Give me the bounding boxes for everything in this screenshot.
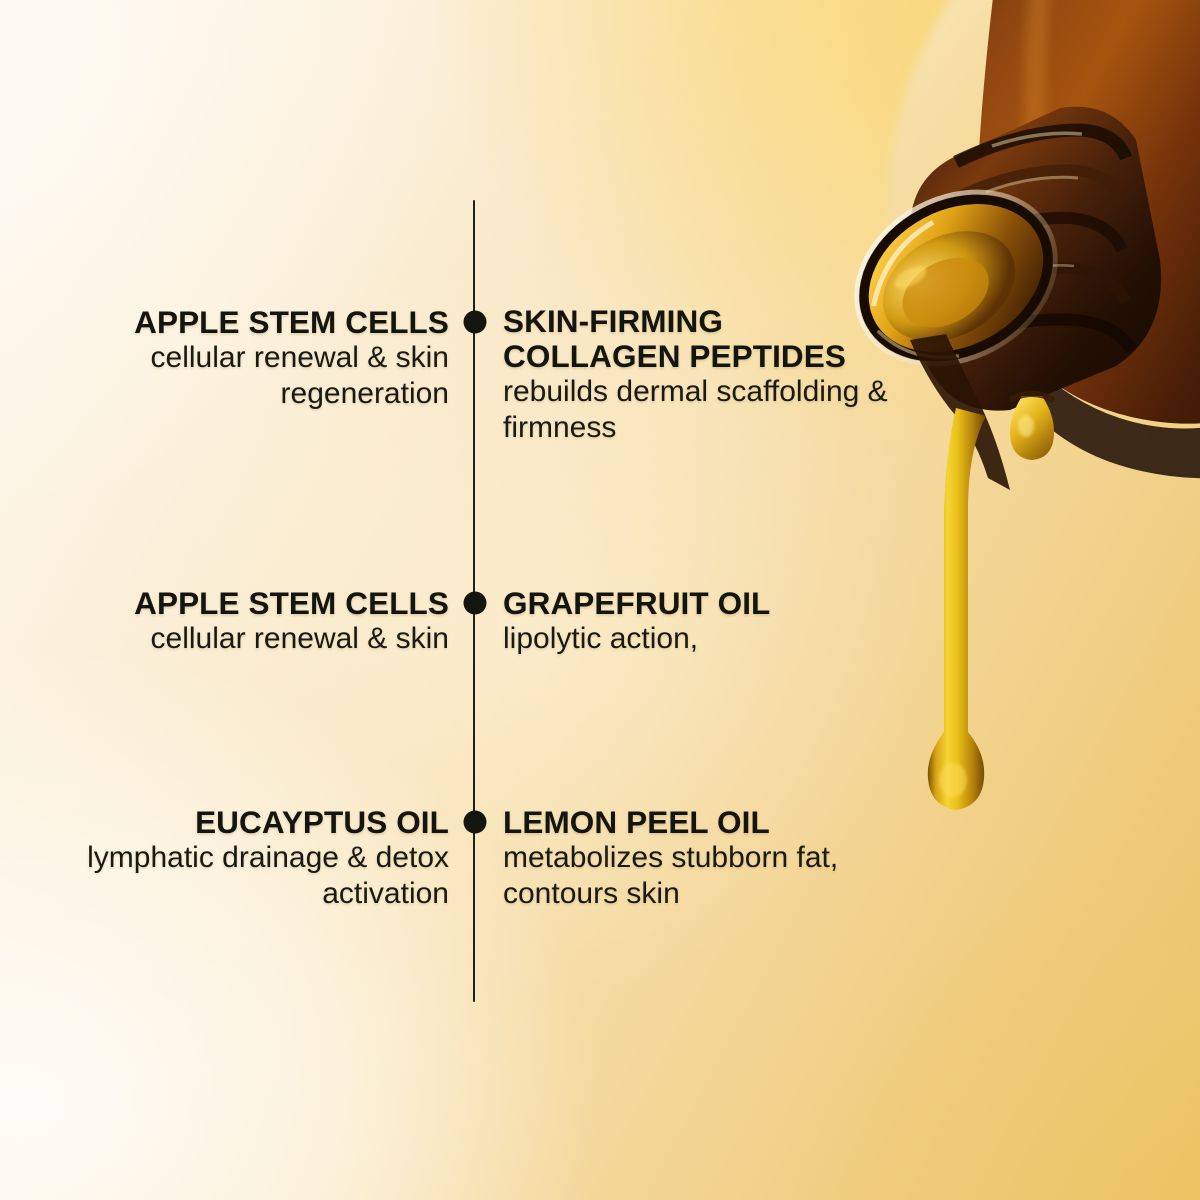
right-ingredient-2-title: GRAPEFRUIT OIL (503, 586, 903, 621)
right-ingredient-1-title: SKIN-FIRMING COLLAGEN PEPTIDES (503, 304, 903, 374)
bullet-dot-1 (463, 311, 486, 334)
left-ingredient-2-title: APPLE STEM CELLS (0, 586, 449, 621)
bullet-dot-3 (463, 811, 486, 834)
bullet-dot-2 (463, 592, 486, 615)
left-ingredient-3-description: lymphatic drainage & detox activation (0, 840, 449, 911)
right-ingredient-3-description: metabolizes stubborn fat, contours skin (503, 840, 903, 911)
left-ingredient-3-title: EUCAYPTUS OIL (0, 805, 449, 840)
ingredient-benefits-poster: APPLE STEM CELLS cellular renewal & skin… (0, 0, 1200, 1200)
right-ingredient-2-description: lipolytic action, (503, 621, 903, 657)
left-ingredient-2-description: cellular renewal & skin (0, 621, 449, 657)
left-ingredient-1-title: APPLE STEM CELLS (0, 305, 449, 340)
right-ingredient-1-description: rebuilds dermal scaffolding & firmness (503, 374, 903, 445)
right-ingredient-2: GRAPEFRUIT OIL lipolytic action, (503, 586, 903, 657)
left-ingredient-1: APPLE STEM CELLS cellular renewal & skin… (0, 305, 449, 411)
left-ingredient-2: APPLE STEM CELLS cellular renewal & skin (0, 586, 449, 657)
right-ingredient-3-title: LEMON PEEL OIL (503, 805, 903, 840)
right-ingredient-1: SKIN-FIRMING COLLAGEN PEPTIDES rebuilds … (503, 304, 903, 445)
left-ingredient-3: EUCAYPTUS OIL lymphatic drainage & detox… (0, 805, 449, 911)
right-ingredient-3: LEMON PEEL OIL metabolizes stubborn fat,… (503, 805, 903, 911)
left-ingredient-1-description: cellular renewal & skin regeneration (0, 340, 449, 411)
